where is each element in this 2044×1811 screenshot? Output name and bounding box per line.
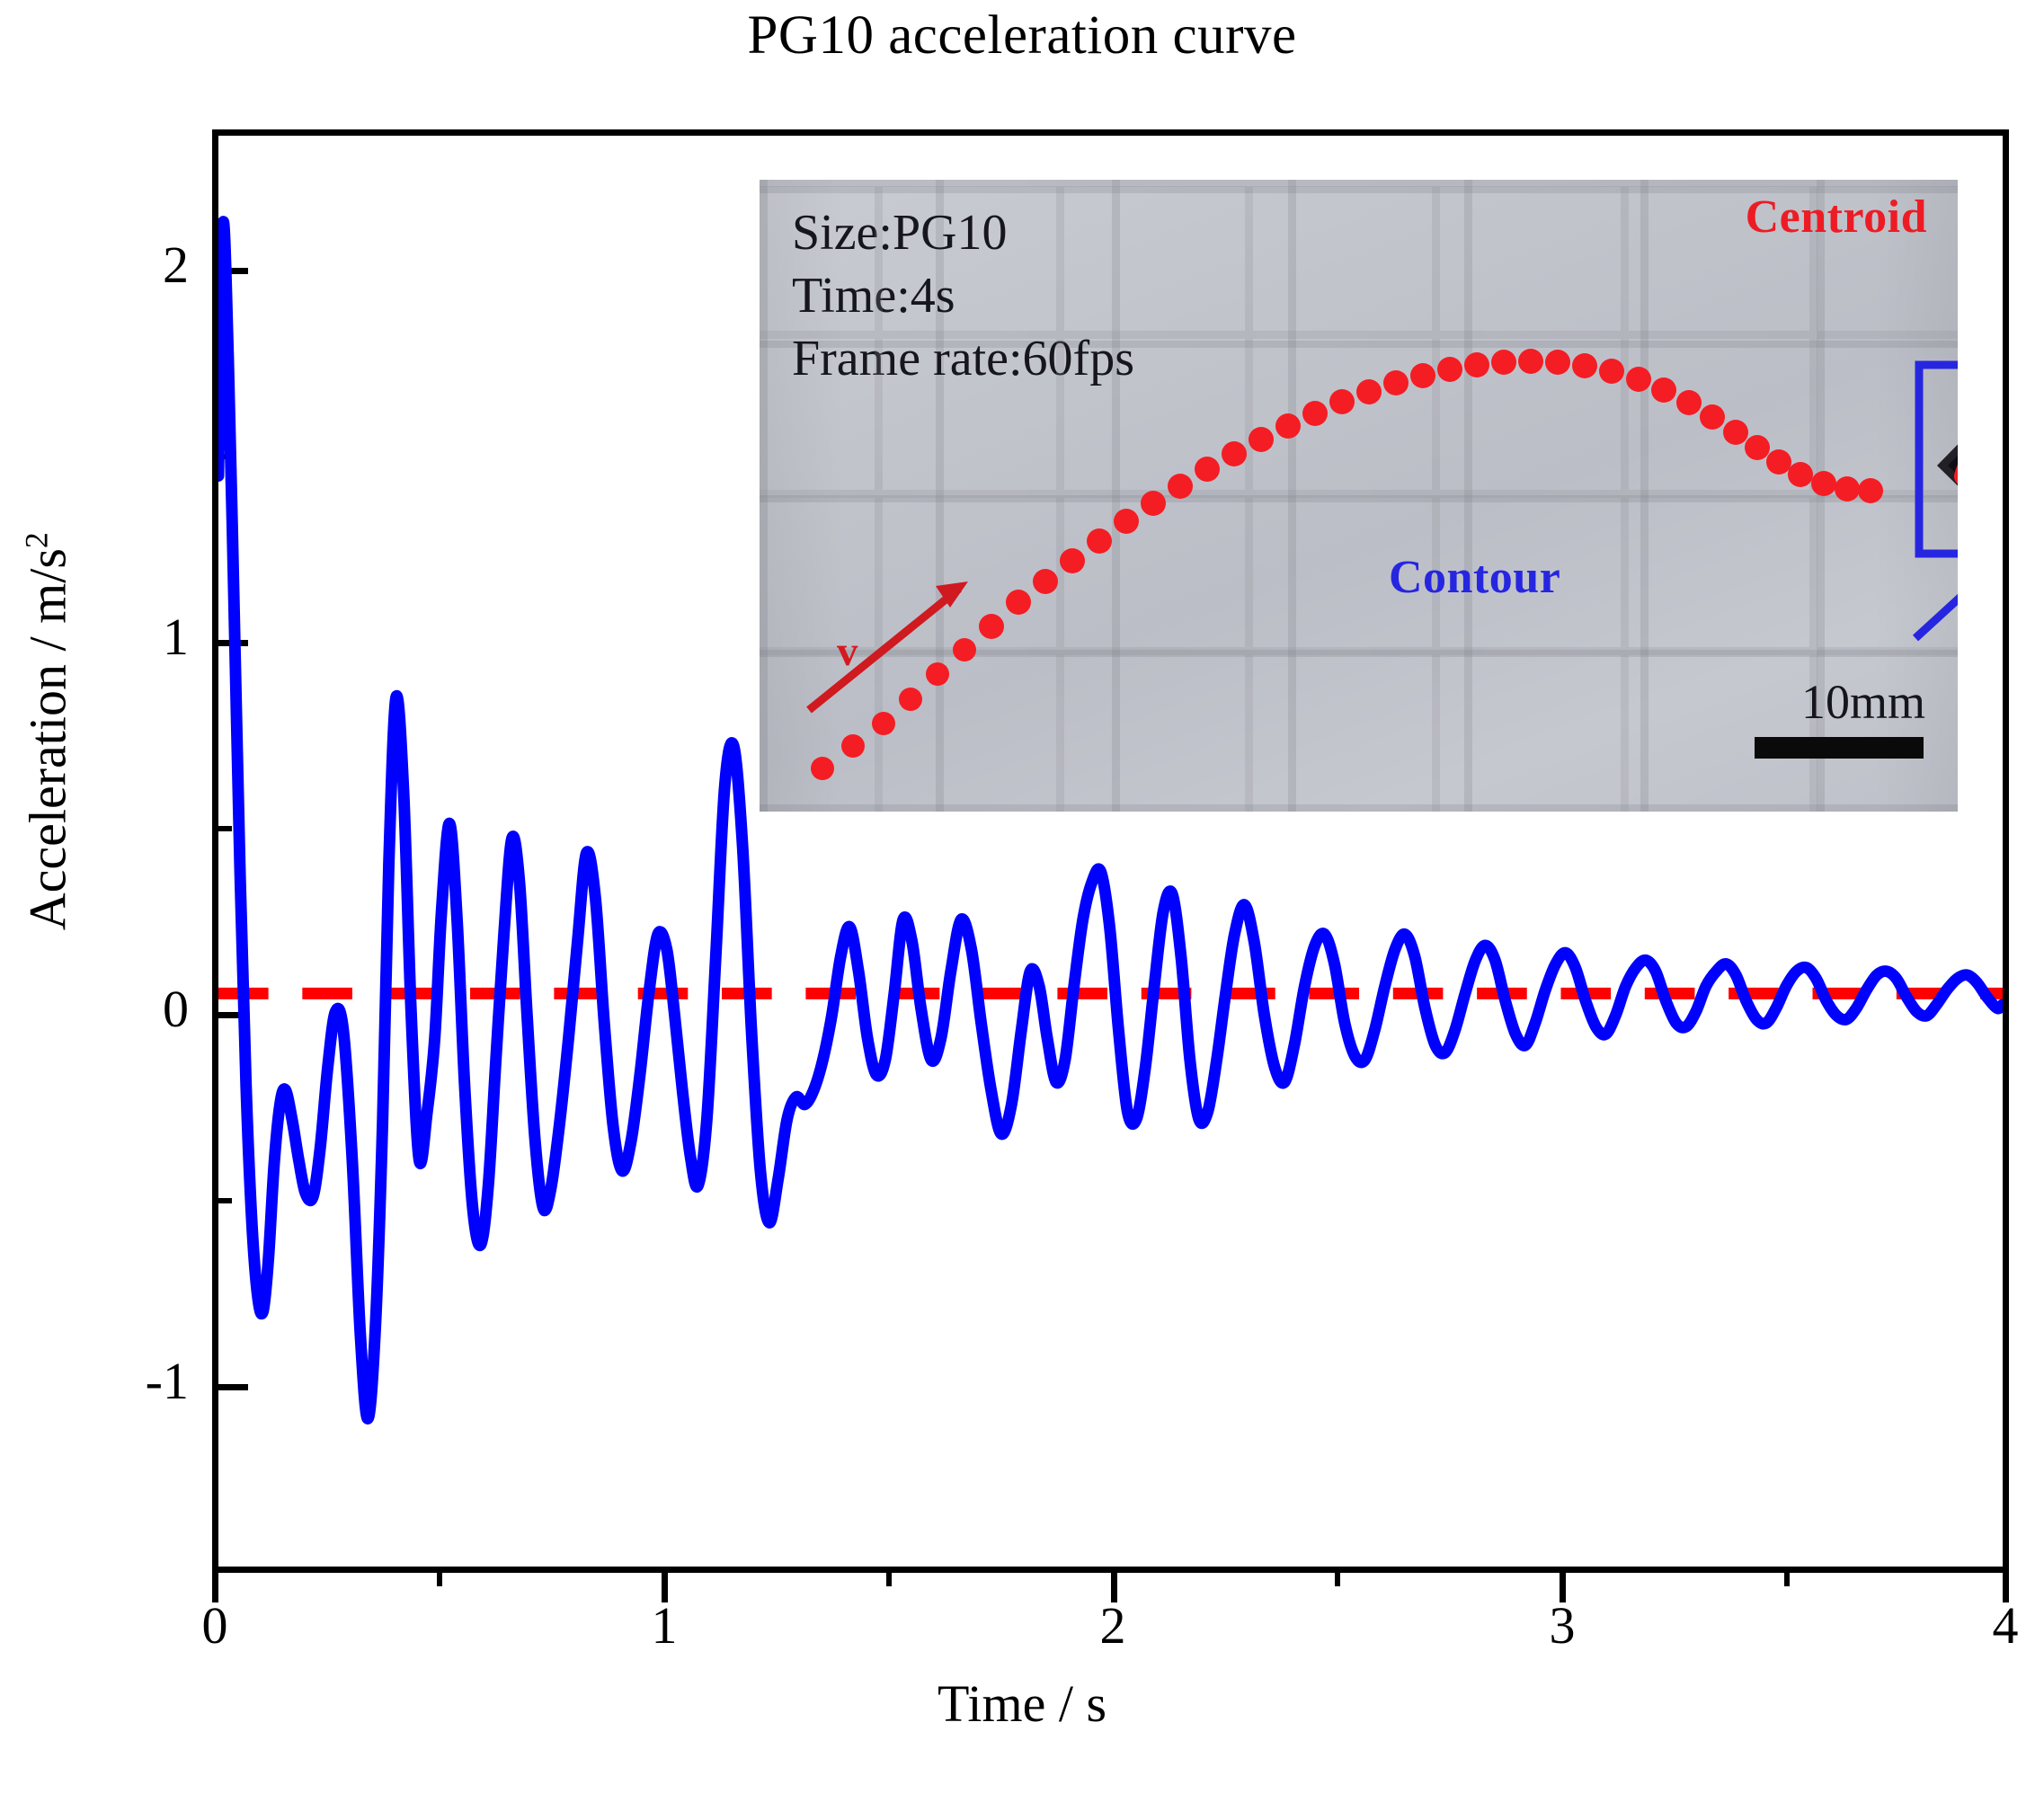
y-tick-label-0: 0 — [54, 983, 189, 1035]
x-tick-label-3: 3 — [1490, 1600, 1634, 1652]
floor-tiles — [760, 180, 1958, 812]
y-tick-label-2: 2 — [54, 239, 189, 291]
velocity-arrow — [809, 581, 968, 710]
contour-leader-arrow — [1915, 554, 1958, 638]
centroid-trajectory — [811, 349, 1883, 780]
inset-photo: Size:PG10 Time:4s Frame rate:60fps — [760, 180, 1958, 812]
acceleration-figure: PG10 acceleration curve Acceleration / m… — [0, 0, 2044, 1811]
contour-label: Contour — [1389, 551, 1560, 604]
scale-bar-label: 10mm — [1801, 674, 1925, 730]
x-tick-label-4: 4 — [1933, 1600, 2044, 1652]
x-axis-label: Time / s — [0, 1673, 2044, 1734]
y-axis-label: Acceleration / m/s2 — [17, 282, 77, 1181]
x-tick-label-0: 0 — [143, 1600, 287, 1652]
y-tick-label-neg1: -1 — [27, 1355, 189, 1407]
velocity-label: v — [837, 627, 858, 676]
x-tick-label-1: 1 — [592, 1600, 736, 1652]
y-axis-label-superscript: 2 — [18, 532, 54, 548]
robot-body — [1937, 385, 1958, 545]
scale-bar — [1755, 737, 1924, 759]
inset-graphics — [760, 180, 1958, 812]
y-axis-label-text: Acceleration / m/s — [19, 548, 77, 930]
centroid-label: Centroid — [1746, 191, 1927, 244]
page-title: PG10 acceleration curve — [0, 5, 2044, 66]
y-tick-label-1: 1 — [54, 611, 189, 663]
x-tick-label-2: 2 — [1041, 1600, 1185, 1652]
